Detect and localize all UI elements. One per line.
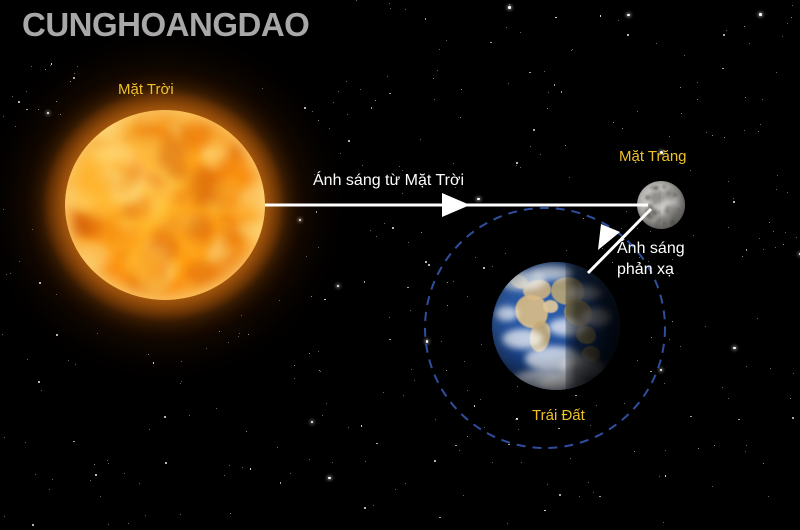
label-sunlight-annotation: Ánh sáng từ Mặt Trời xyxy=(313,172,464,190)
label-sun: Mặt Trời xyxy=(118,81,174,98)
reflected-label-line-1: Ánh sáng xyxy=(617,238,685,259)
diagram-canvas: CUNGHOANGDAO Mặt Trời Mặt Trăng Trái Đất… xyxy=(0,0,800,530)
watermark-text: CUNGHOANGDAO xyxy=(22,6,309,44)
label-moon: Mặt Trăng xyxy=(619,148,687,165)
sunlight-arrowhead xyxy=(442,193,470,217)
label-earth: Trái Đất xyxy=(532,407,585,424)
label-reflected-light-annotation: Ánh sáng phản xạ xyxy=(617,238,685,280)
reflected-label-line-2: phản xạ xyxy=(617,259,685,280)
